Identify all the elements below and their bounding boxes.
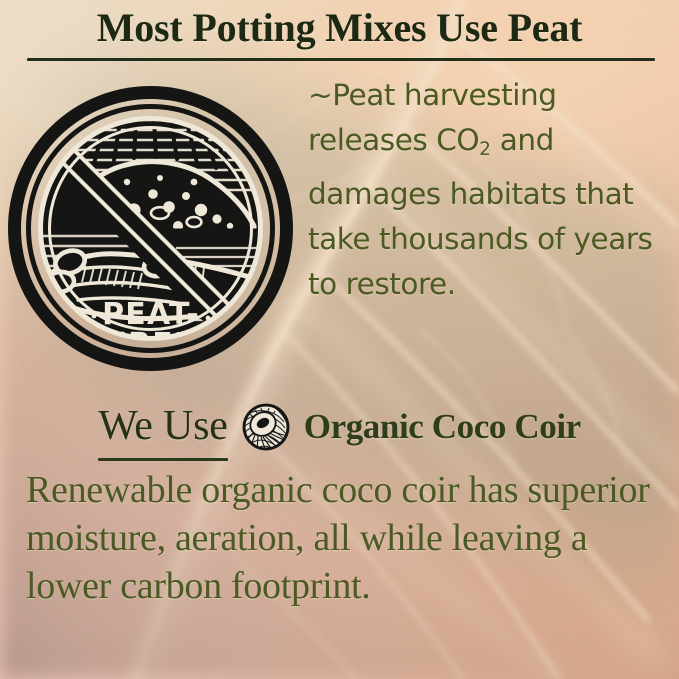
we-use-underline	[98, 458, 228, 461]
title-underline	[27, 58, 655, 61]
peat-impact-paragraph: ~Peat harvesting releases CO2 and damage…	[308, 73, 674, 307]
page-title: Most Potting Mixes Use Peat	[0, 5, 679, 51]
coconut-coir-icon	[241, 402, 291, 452]
we-use-label: We Use	[98, 402, 228, 452]
we-use-text: We Use	[98, 403, 228, 449]
co2-subscript: 2	[479, 139, 491, 160]
coco-coir-paragraph: Renewable organic coco coir has superior…	[26, 466, 666, 610]
peat-free-infographic: Most Potting Mixes Use Peat	[0, 0, 679, 679]
peat-free-seal-icon: PEAT- -FREE-	[8, 86, 293, 371]
we-use-row: We Use	[0, 400, 679, 454]
coco-coir-label: Organic Coco Coir	[304, 407, 581, 447]
